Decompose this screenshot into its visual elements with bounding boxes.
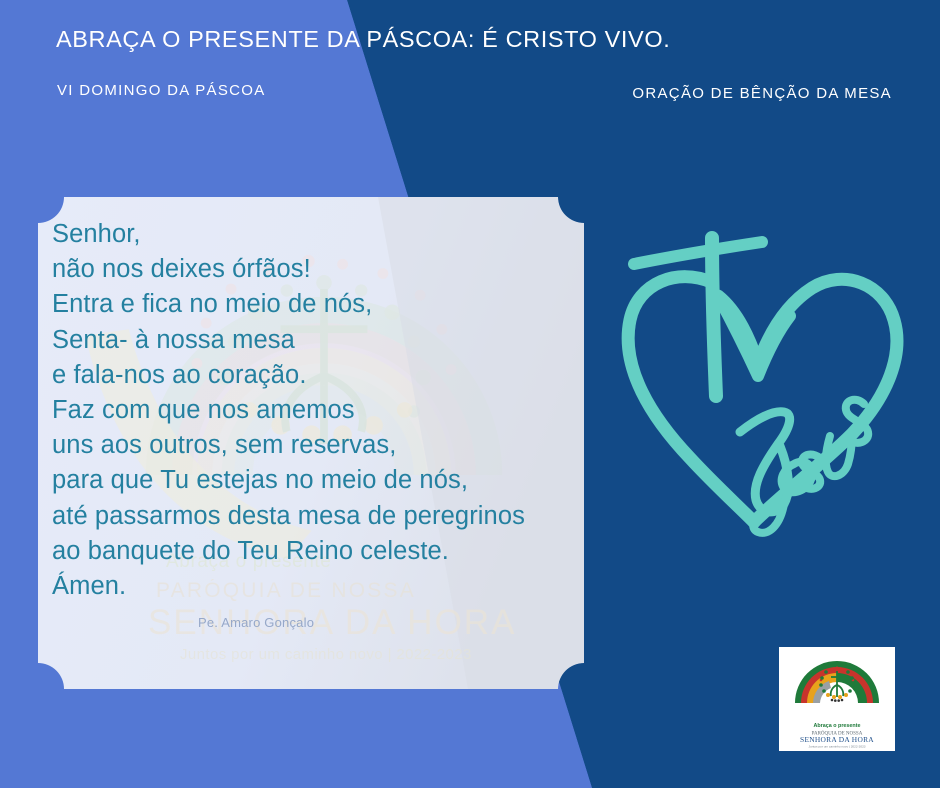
prayer-line: Senta- à nossa mesa: [52, 323, 580, 358]
parish-logo: Abraça o presente PARÓQUIA DE NOSSA SENH…: [779, 647, 895, 751]
prayer-line: Faz com que nos amemos: [52, 393, 580, 428]
prayer-card: Abraça o presente PARÓQUIA DE NOSSA SENH…: [38, 197, 584, 689]
prayer-line: até passarmos desta mesa de peregrinos: [52, 499, 580, 534]
prayer-line: Senhor,: [52, 217, 580, 252]
prayer-attribution: Pe. Amaro Gonçalo: [198, 615, 314, 630]
page-title: ABRAÇA O PRESENTE DA PÁSCOA: É CRISTO VI…: [56, 26, 670, 53]
jesus-lettering: [740, 400, 868, 533]
prayer-line: não nos deixes órfãos!: [52, 252, 580, 287]
prayer-type-label: ORAÇÃO DE BÊNÇÃO DA MESA: [632, 85, 892, 102]
prayer-line: para que Tu estejas no meio de nós,: [52, 463, 580, 498]
prayer-line: Ámen.: [52, 569, 580, 604]
prayer-text-block: Senhor, não nos deixes órfãos! Entra e f…: [52, 217, 580, 604]
logo-footnote: Juntos por um caminho novo | 2022-2023: [808, 745, 865, 749]
logo-tagline: Abraça o presente: [813, 723, 860, 729]
prayer-line: uns aos outros, sem reservas,: [52, 428, 580, 463]
liturgical-day-label: VI DOMINGO DA PÁSCOA: [57, 82, 266, 99]
prayer-line: Entra e fica no meio de nós,: [52, 287, 580, 322]
heart-with-cross-icon: [608, 196, 920, 546]
prayer-line: ao banquete do Teu Reino celeste.: [52, 534, 580, 569]
prayer-line: e fala-nos ao coração.: [52, 358, 580, 393]
poster-canvas: ABRAÇA O PRESENTE DA PÁSCOA: É CRISTO VI…: [0, 0, 940, 788]
logo-parish-name: SENHORA DA HORA: [800, 735, 874, 744]
